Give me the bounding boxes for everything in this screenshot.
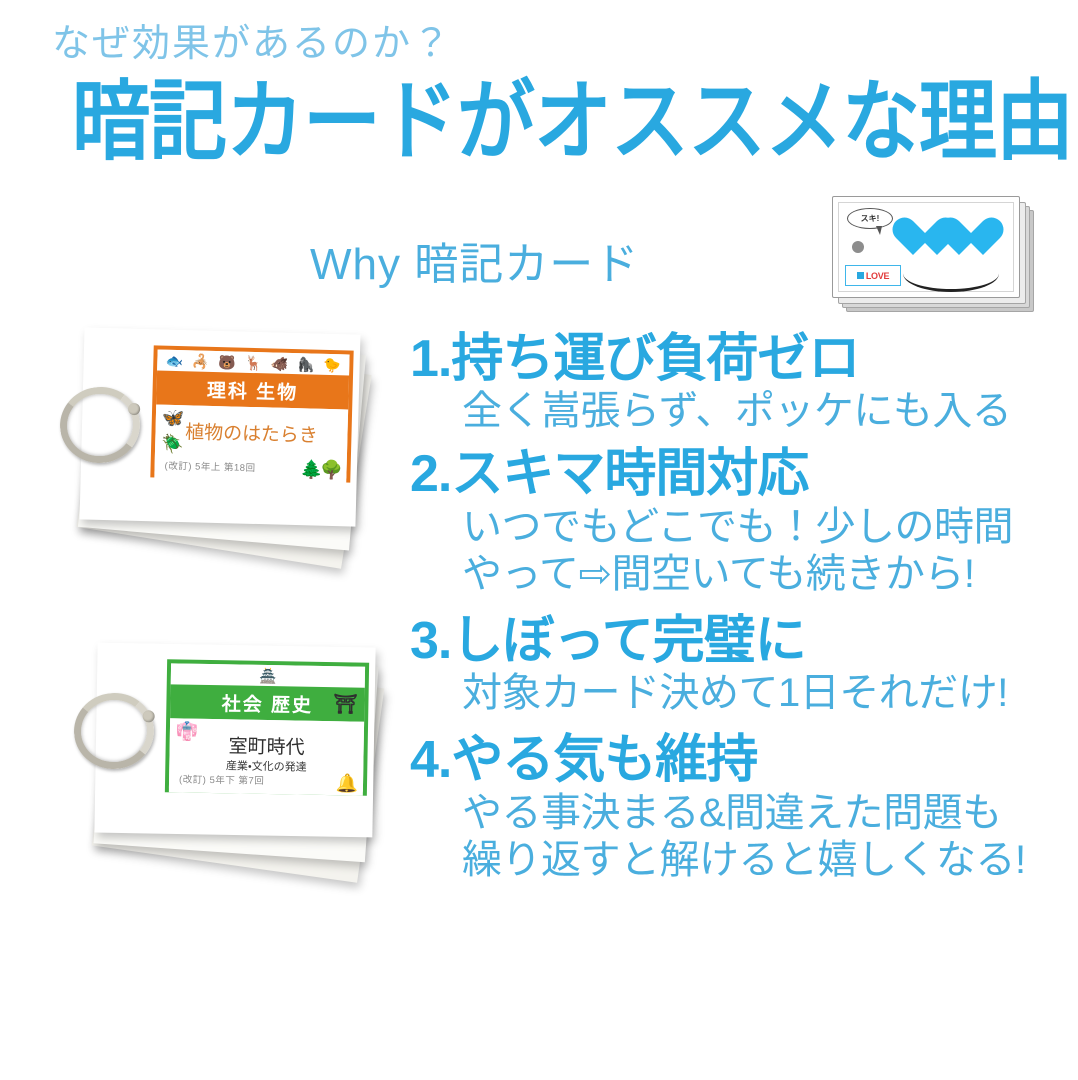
- castle-icon: 🏯: [259, 668, 277, 682]
- subject-bar-science: 理科 生物: [156, 371, 349, 410]
- benefit-title-1: 1.持ち運び負荷ゼロ: [410, 330, 1070, 388]
- ape-icon: 🦍: [297, 357, 315, 371]
- heart-icon: [951, 219, 991, 255]
- benefit-item-4: 4.やる気も維持 やる事決まる&間違えた問題も 繰り返すと解けると嬉しくなる!: [410, 731, 1070, 884]
- subject-label: 理科 生物: [207, 375, 299, 404]
- benefit-title-2: 2.スキマ時間対応: [410, 445, 1070, 503]
- flashcard-body-science: 🦋 🪲 植物のはたらき 🌲 🌳 (改訂) 5年上 第18回: [154, 404, 348, 483]
- bear-icon: 🐻: [218, 355, 236, 369]
- benefit-line-2-2: やって⇨間空いても続きから!: [462, 551, 1070, 598]
- benefit-line-4-2: 繰り返すと解けると嬉しくなる!: [462, 837, 1070, 884]
- benefit-line-2-1: いつでもどこでも！少しの時間: [462, 504, 1070, 551]
- broadleaf-tree-icon: 🌳: [320, 461, 343, 480]
- benefit-line-1-1: 全く嵩張らず、ポッケにも入る: [462, 388, 1070, 435]
- smiley-card-front: スキ! LOVE: [832, 196, 1020, 298]
- speech-bubble-icon: スキ!: [847, 208, 893, 229]
- smiley-card-stack: スキ! LOVE: [832, 196, 1037, 314]
- flashcard-label-science: 🐟 🦂 🐻 🦌 🐗 🦍 🐤 理科 生物 🦋 🪲 植物のはたらき 🌲 🌳 (改訂)…: [150, 345, 353, 482]
- poster-canvas: なぜ効果があるのか？ 暗記カードがオススメな理由 Why 暗記カード スキ! L…: [0, 0, 1078, 1080]
- why-label: Why 暗記カード: [310, 228, 639, 292]
- flashcard-meta-history: (改訂) 5年下 第7回: [179, 771, 264, 786]
- love-badge: LOVE: [845, 265, 901, 286]
- flashcard-body-history: 👘 室町時代 産業・文化の発達 🔔 (改訂) 5年下 第7回: [169, 718, 364, 795]
- square-icon: [857, 272, 864, 279]
- bird-icon: 🐤: [323, 357, 341, 371]
- shrine-icon: ⛩: [333, 695, 359, 714]
- benefit-item-2: 2.スキマ時間対応 いつでもどこでも！少しの時間 やって⇨間空いても続きから!: [410, 445, 1070, 598]
- dot-icon: [852, 241, 864, 253]
- benefit-line-4-1: やる事決まる&間違えた問題も: [462, 790, 1070, 837]
- flashcard-stack-history: 🏯 社会 歴史 ⛩ 👘 室町時代 産業・文化の発達 🔔 (改訂) 5年下 第7回: [72, 635, 412, 905]
- benefits-list: 1.持ち運び負荷ゼロ 全く嵩張らず、ポッケにも入る 2.スキマ時間対応 いつでも…: [410, 330, 1070, 890]
- love-badge-label: LOVE: [866, 271, 889, 281]
- fish-icon: 🐟: [166, 353, 184, 367]
- benefit-item-3: 3.しぼって完璧に 対象カード決めて1日それだけ!: [410, 612, 1070, 717]
- temple-bell-icon: 🔔: [335, 774, 358, 792]
- subject-label: 社会 歴史: [222, 689, 314, 718]
- subject-bar-history: 社会 歴史 ⛩: [170, 684, 365, 721]
- smile-icon: [903, 255, 999, 292]
- benefit-title-3: 3.しぼって完璧に: [410, 612, 1070, 670]
- benefit-title-4: 4.やる気も維持: [410, 731, 1070, 789]
- flashcard-title-science: 植物のはたらき: [155, 416, 348, 448]
- lizard-icon: 🦂: [192, 354, 210, 368]
- benefit-line-3-1: 対象カード決めて1日それだけ!: [462, 670, 1070, 717]
- page-title: 暗記カードがオススメな理由: [72, 52, 1073, 177]
- boar-icon: 🐗: [271, 356, 289, 370]
- flashcard-label-history: 🏯 社会 歴史 ⛩ 👘 室町時代 産業・文化の発達 🔔 (改訂) 5年下 第7回: [165, 659, 369, 796]
- deer-icon: 🦌: [244, 355, 262, 369]
- flashcard-stack-science: 🐟 🦂 🐻 🦌 🐗 🦍 🐤 理科 生物 🦋 🪲 植物のはたらき 🌲 🌳 (改訂)…: [60, 325, 400, 590]
- benefit-item-1: 1.持ち運び負荷ゼロ 全く嵩張らず、ポッケにも入る: [410, 330, 1070, 435]
- flashcard-meta-science: (改訂) 5年上 第18回: [164, 458, 255, 474]
